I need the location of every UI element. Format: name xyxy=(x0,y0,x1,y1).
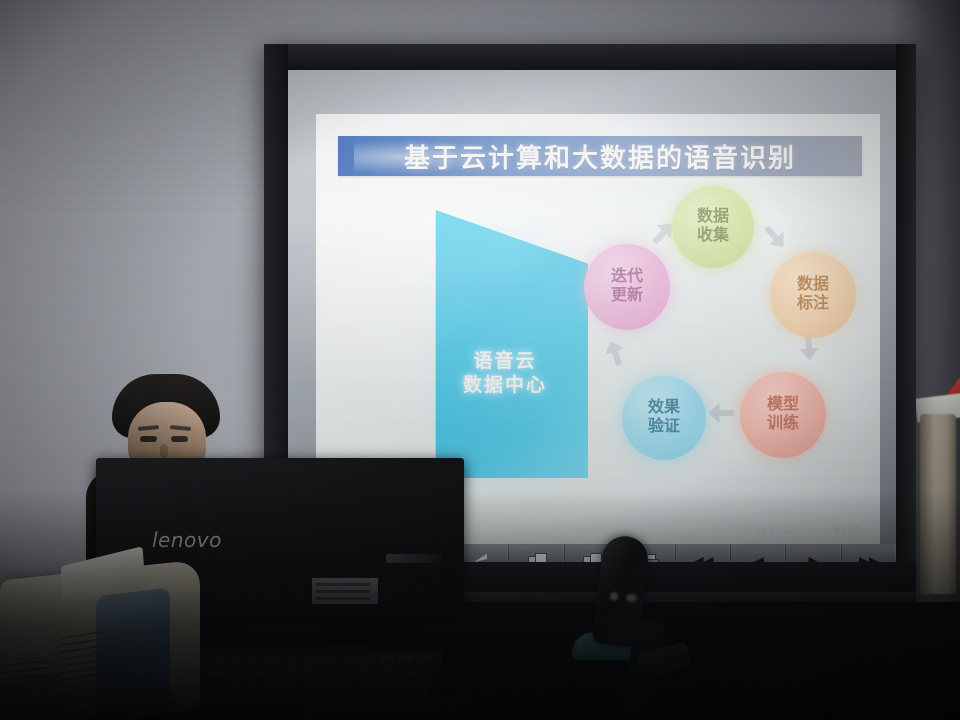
arrow-train-to-verify xyxy=(708,402,734,424)
slide-title-band: 基于云计算和大数据的语音识别 xyxy=(338,136,862,176)
node-train-line2: 训练 xyxy=(767,415,799,432)
node-verify-line2: 验证 xyxy=(648,418,680,435)
arrow-verify-to-update xyxy=(600,337,630,369)
arrow-collect-to-annotate xyxy=(758,220,792,254)
node-annotate-line1: 数据 xyxy=(797,276,829,293)
cycle-node-iterative-update: 迭代 更新 xyxy=(584,244,670,330)
cycle-node-data-annotation: 数据 标注 xyxy=(770,252,856,338)
cloud-panel-label: 语音云 数据中心 xyxy=(426,350,584,398)
board-frame-top xyxy=(264,44,916,70)
node-train-line1: 模型 xyxy=(767,396,799,413)
photo-scene: 基于云计算和大数据的语音识别 语音云 数据中心 xyxy=(0,0,960,720)
node-update-line1: 迭代 xyxy=(611,268,643,285)
cloud-panel-shape xyxy=(426,210,588,478)
cycle-node-data-collection: 数据 收集 xyxy=(672,186,754,268)
node-annotate-line2: 标注 xyxy=(797,295,829,312)
page-title: 基于云计算和大数据的语音识别 xyxy=(404,138,796,175)
workflow-cycle-diagram: 数据 收集 数据 标注 模型 训练 xyxy=(584,186,874,486)
node-update-line2: 更新 xyxy=(611,287,643,304)
node-collect-line1: 数据 xyxy=(697,208,729,225)
cloud-data-center-panel: 语音云 数据中心 xyxy=(426,210,588,478)
cloud-panel-label-line2: 数据中心 xyxy=(463,375,547,396)
cycle-node-effect-verification: 效果 验证 xyxy=(622,376,706,460)
node-verify-line1: 效果 xyxy=(648,399,680,416)
room-lower-shadow xyxy=(0,490,960,720)
cloud-panel-label-line1: 语音云 xyxy=(473,351,536,372)
node-collect-line2: 收集 xyxy=(697,227,729,244)
cycle-node-model-training: 模型 训练 xyxy=(740,372,826,458)
